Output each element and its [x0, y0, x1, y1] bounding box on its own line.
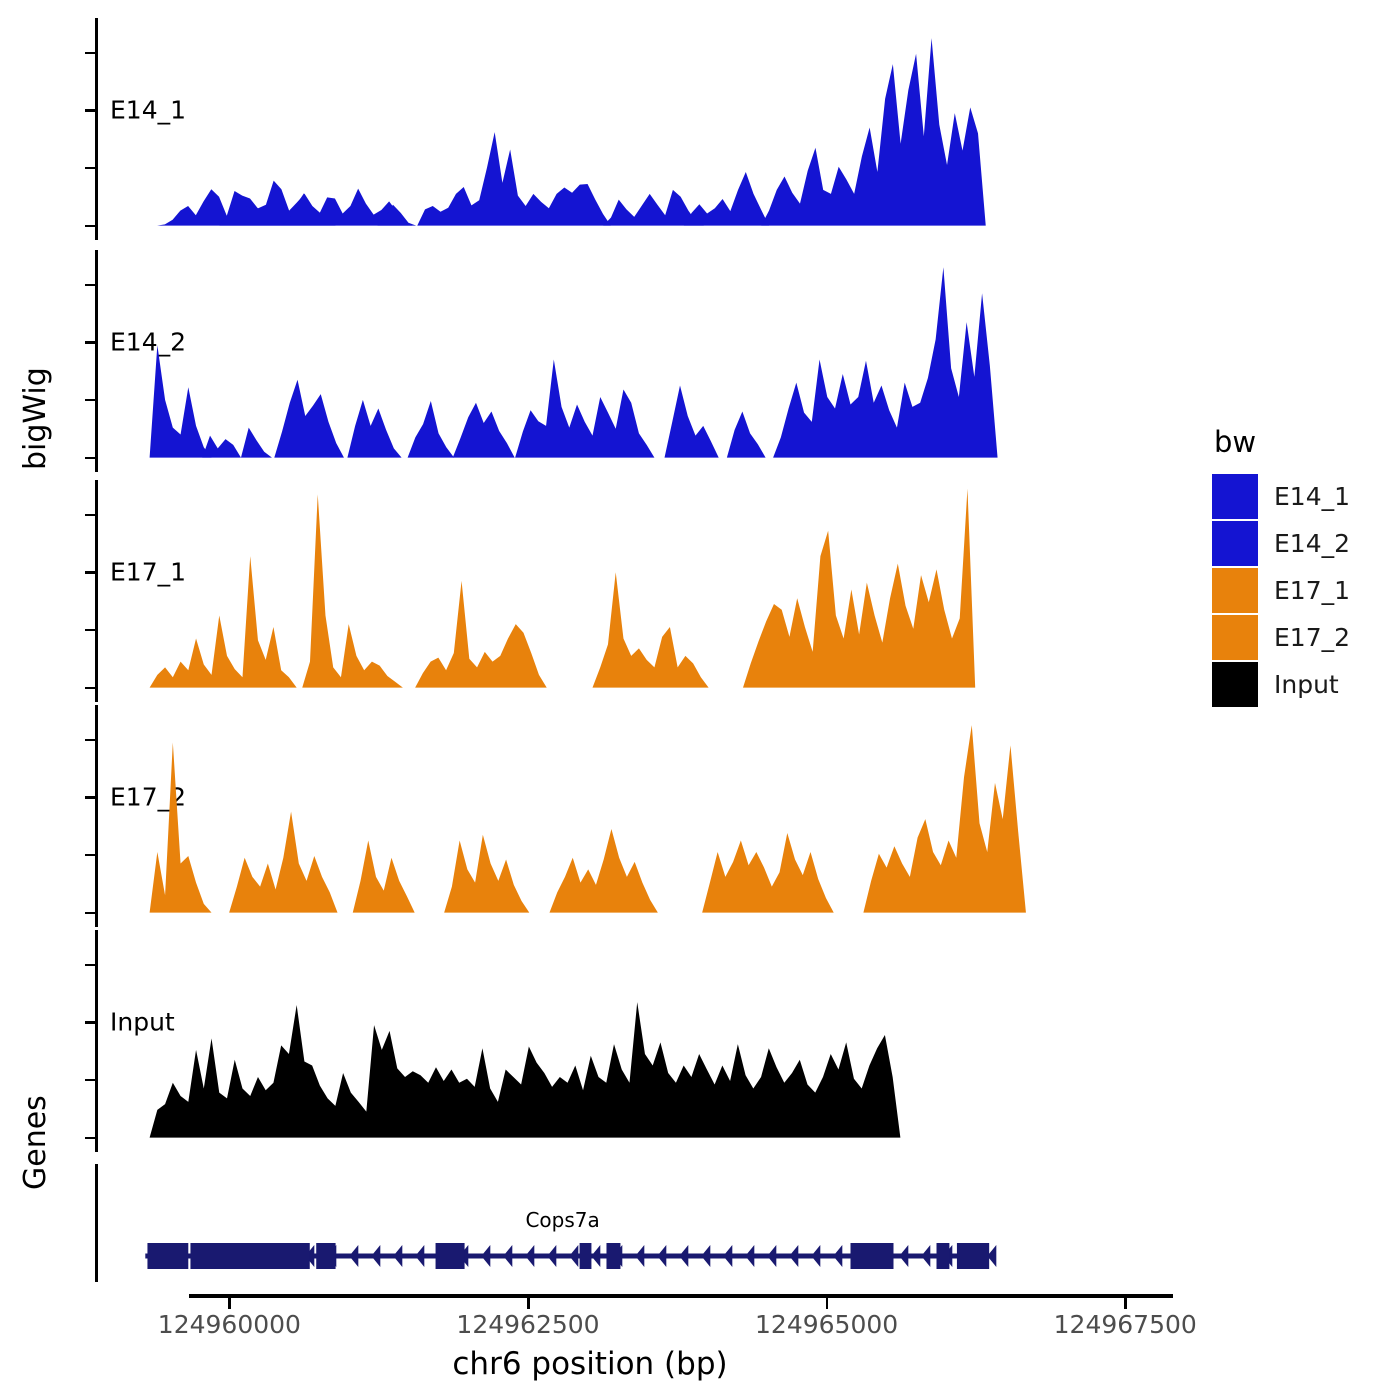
exon-box[interactable]: [580, 1243, 592, 1269]
wig-segment: [773, 267, 997, 457]
strand-arrow-icon: [349, 1245, 358, 1267]
legend-title: bw: [1214, 428, 1392, 457]
strand-arrow-icon: [657, 1245, 666, 1267]
legend-item-input[interactable]: Input: [1212, 661, 1392, 708]
wig-panel-e17_2: 0123E17_2: [0, 705, 1180, 927]
strand-arrow-icon: [525, 1245, 534, 1267]
wig-segment: [550, 829, 658, 913]
legend-item-e17_2[interactable]: E17_2: [1212, 614, 1392, 661]
wig-segment: [761, 38, 985, 225]
legend-item-e14_2[interactable]: E14_2: [1212, 520, 1392, 567]
legend: bw E14_1E14_2E17_1E17_2Input: [1212, 428, 1392, 708]
strand-arrow-icon: [899, 1245, 908, 1267]
wig-area-e17_2: [0, 705, 1180, 927]
exon-box[interactable]: [957, 1243, 989, 1269]
wig-area-e17_1: [0, 480, 1180, 702]
gene-name-label: Cops7a: [525, 1210, 599, 1230]
legend-item-label: E14_1: [1274, 484, 1350, 509]
x-tick: [826, 1298, 829, 1309]
wig-segment: [702, 833, 834, 913]
exon-box[interactable]: [316, 1243, 335, 1269]
wig-segment: [727, 411, 766, 457]
wig-segment: [274, 380, 344, 458]
legend-item-e17_1[interactable]: E17_1: [1212, 567, 1392, 614]
wig-segment: [665, 386, 719, 458]
wig-segment: [150, 345, 212, 457]
x-axis-line: [189, 1294, 1173, 1298]
exon-box[interactable]: [606, 1243, 620, 1269]
strand-arrow-icon: [371, 1245, 380, 1267]
legend-item-label: E17_2: [1274, 625, 1350, 650]
strand-arrow-icon: [679, 1245, 688, 1267]
wig-segment: [593, 572, 709, 687]
x-axis: 124960000124962500124965000124967500 chr…: [0, 1294, 1400, 1394]
strand-arrow-icon: [547, 1245, 556, 1267]
strand-arrow-icon: [767, 1245, 776, 1267]
x-tick-label: 124960000: [158, 1312, 301, 1337]
legend-item-label: E17_1: [1274, 578, 1350, 603]
genes-axis-spine: [95, 1164, 98, 1282]
legend-item-label: E14_2: [1274, 531, 1350, 556]
strand-arrow-icon: [393, 1245, 402, 1267]
wig-panel-input: 0123Input: [0, 930, 1180, 1152]
wig-segment: [150, 742, 212, 912]
wig-segment: [347, 400, 401, 458]
strand-arrow-icon: [745, 1245, 754, 1267]
plot-root: bigWig Genes 0123E14_10123E14_20123E17_1…: [0, 0, 1400, 1400]
wig-segment: [408, 401, 454, 458]
exon-box[interactable]: [190, 1243, 309, 1269]
wig-segment: [302, 494, 403, 687]
wig-segment: [415, 581, 547, 688]
x-tick: [527, 1298, 530, 1309]
x-tick-label: 124962500: [456, 1312, 599, 1337]
wig-segment: [417, 132, 611, 225]
wig-segment: [743, 489, 975, 688]
legend-swatch-icon: [1212, 615, 1258, 660]
strand-arrow-icon: [569, 1245, 578, 1267]
legend-swatch-icon: [1212, 568, 1258, 613]
strand-arrow-icon: [481, 1245, 490, 1267]
strand-arrow-icon: [415, 1245, 424, 1267]
wig-area-e14_2: [0, 250, 1180, 472]
wig-segment: [515, 360, 654, 458]
wig-area-e14_1: [0, 18, 1180, 240]
wig-segment: [150, 556, 297, 687]
exon-box[interactable]: [147, 1243, 188, 1269]
wig-segment: [684, 172, 769, 226]
genes-panel: Cops7a: [0, 1158, 1180, 1288]
wig-segment: [241, 428, 272, 458]
legend-item-label: Input: [1274, 672, 1339, 697]
strand-arrow-icon: [723, 1245, 732, 1267]
legend-item-e14_1[interactable]: E14_1: [1212, 473, 1392, 520]
wig-segment: [444, 835, 529, 913]
wig-area-input: [0, 930, 1180, 1152]
strand-arrow-icon: [503, 1245, 512, 1267]
legend-swatch-icon: [1212, 521, 1258, 566]
wig-segment: [150, 1002, 901, 1138]
x-axis-title: chr6 position (bp): [0, 1349, 1180, 1380]
strand-arrow-icon: [789, 1245, 798, 1267]
wig-segment: [202, 436, 241, 458]
exon-box[interactable]: [851, 1243, 894, 1269]
wig-segment: [863, 725, 1026, 912]
wig-panel-e14_1: 0123E14_1: [0, 18, 1180, 240]
legend-rows: E14_1E14_2E17_1E17_2Input: [1212, 473, 1392, 708]
x-tick: [228, 1298, 231, 1309]
strand-arrow-icon: [921, 1245, 930, 1267]
legend-swatch-icon: [1212, 474, 1258, 519]
strand-arrow-icon: [591, 1245, 600, 1267]
strand-arrow-icon: [833, 1245, 842, 1267]
x-tick-label: 124965000: [755, 1312, 898, 1337]
wig-panel-e14_2: 0123E14_2: [0, 250, 1180, 472]
exon-box[interactable]: [937, 1243, 950, 1269]
wig-segment: [353, 841, 415, 913]
exon-box[interactable]: [436, 1243, 465, 1269]
x-tick: [1124, 1298, 1127, 1309]
strand-arrow-icon: [811, 1245, 820, 1267]
legend-swatch-icon: [1212, 662, 1258, 707]
strand-arrow-icon: [701, 1245, 710, 1267]
wig-panel-e17_1: 0123E17_1: [0, 480, 1180, 702]
wig-segment: [453, 403, 515, 458]
x-tick-label: 124967500: [1054, 1312, 1197, 1337]
wig-segment: [229, 812, 337, 913]
strand-arrow-icon: [635, 1245, 644, 1267]
